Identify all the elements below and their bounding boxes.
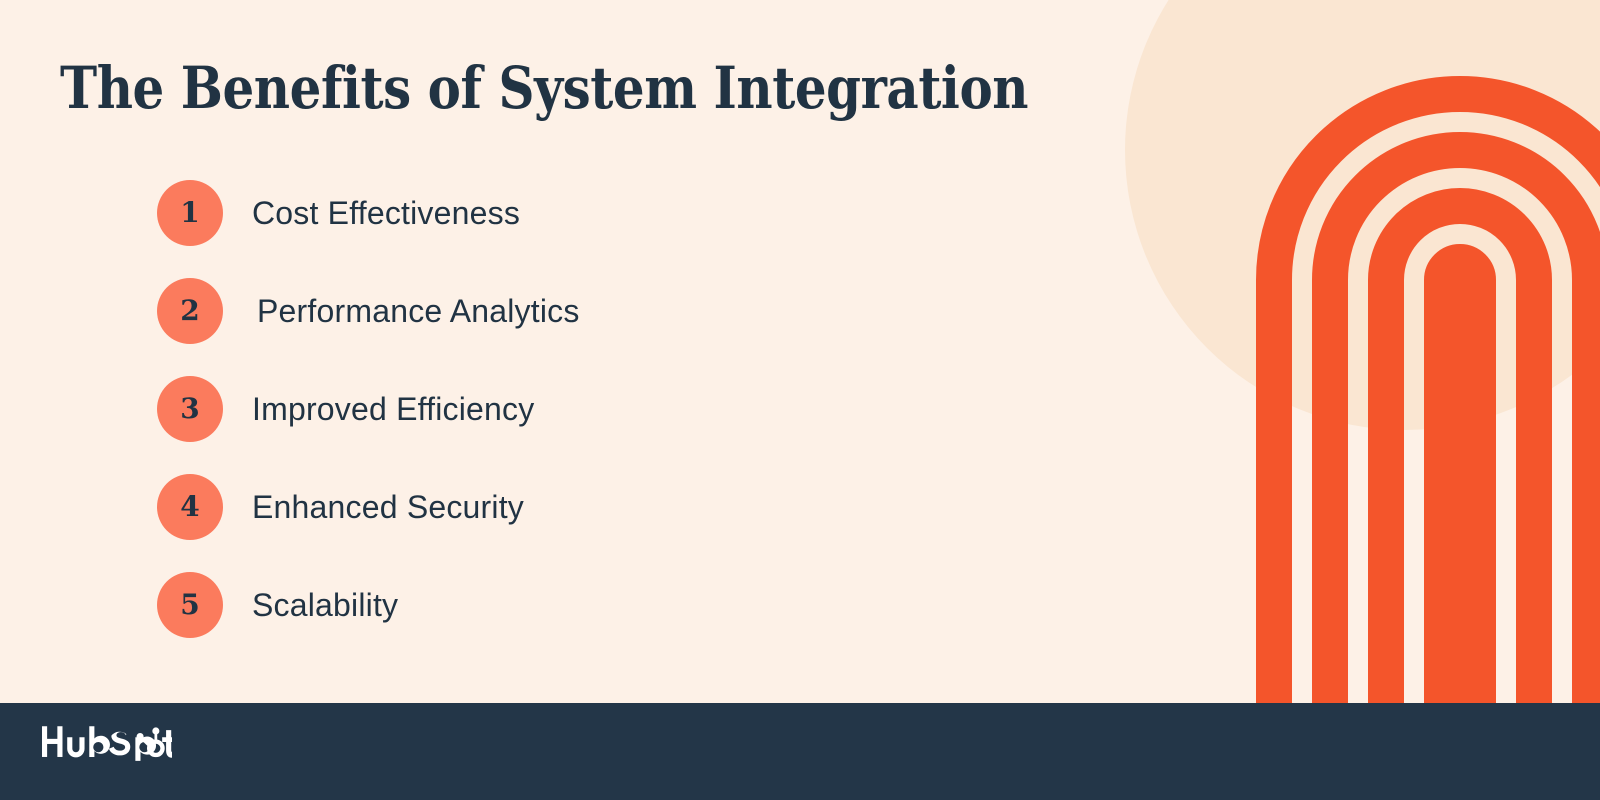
infographic-canvas: The Benefits of System Integration 1 Cos… (0, 0, 1600, 800)
arc-third (1386, 206, 1534, 703)
list-item-label: Improved Efficiency (252, 391, 534, 428)
number-badge: 3 (157, 376, 223, 442)
footer-bar (0, 703, 1600, 800)
list-item: 5 Scalability (157, 572, 1057, 638)
arc-outer (1274, 94, 1600, 703)
list-item-label: Performance Analytics (257, 293, 580, 330)
list-item-label: Cost Effectiveness (252, 195, 520, 232)
list-item: 3 Improved Efficiency (157, 376, 1057, 442)
page-title: The Benefits of System Integration (60, 58, 1028, 119)
number-badge: 5 (157, 572, 223, 638)
concentric-arcs-graphic (1180, 0, 1600, 703)
benefits-list: 1 Cost Effectiveness 2 Performance Analy… (157, 180, 1057, 670)
list-item: 4 Enhanced Security (157, 474, 1057, 540)
arc-second (1330, 150, 1590, 703)
number-badge: 4 (157, 474, 223, 540)
hubspot-logo (42, 722, 172, 762)
list-item-label: Scalability (252, 587, 398, 624)
list-item: 2 Performance Analytics (157, 278, 1057, 344)
list-item: 1 Cost Effectiveness (157, 180, 1057, 246)
number-badge: 1 (157, 180, 223, 246)
beige-circle-shape (1125, 0, 1600, 430)
list-item-label: Enhanced Security (252, 489, 524, 526)
number-badge: 2 (157, 278, 223, 344)
arc-inner (1442, 262, 1478, 703)
